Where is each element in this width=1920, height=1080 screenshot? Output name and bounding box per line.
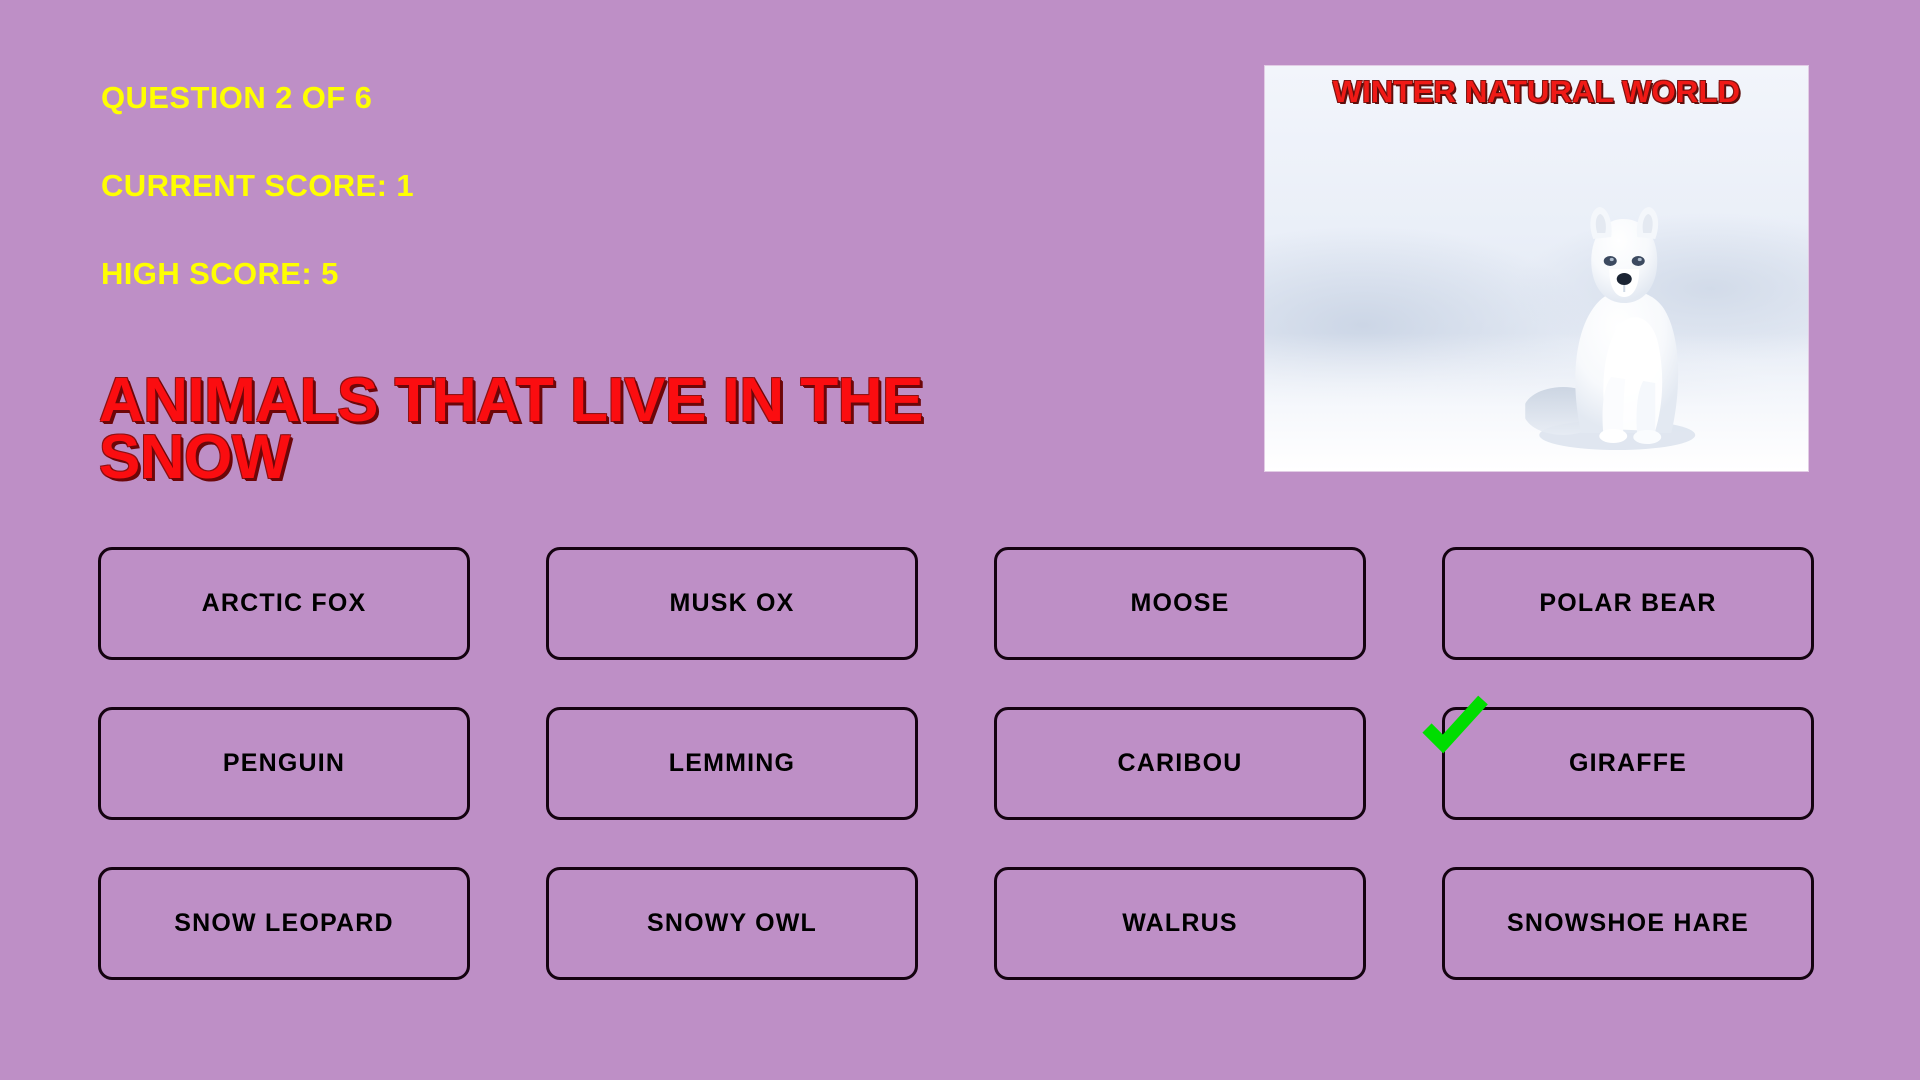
correct-check-icon <box>1417 688 1493 758</box>
answer-button[interactable]: MUSK OX <box>546 547 918 660</box>
arctic-fox-icon <box>1525 183 1721 451</box>
answer-button[interactable]: PENGUIN <box>98 707 470 820</box>
answer-button-label: MOOSE <box>1130 589 1229 618</box>
answer-button-label: WALRUS <box>1122 909 1238 938</box>
current-score-label: CURRENT SCORE: 1 <box>101 170 414 201</box>
answer-button-label: SNOWY OWL <box>647 909 817 938</box>
answer-button-label: LEMMING <box>669 749 795 778</box>
high-score-label: HIGH SCORE: 5 <box>101 258 339 289</box>
answer-button-label: POLAR BEAR <box>1539 589 1716 618</box>
answer-button-label: PENGUIN <box>223 749 345 778</box>
answer-button-label: SNOW LEOPARD <box>174 909 394 938</box>
question-prompt: ANIMALS THAT LIVE IN THE SNOW <box>99 372 1099 486</box>
answer-button-label: CARIBOU <box>1117 749 1242 778</box>
question-progress-label: QUESTION 2 OF 6 <box>101 82 372 113</box>
answer-button-label: ARCTIC FOX <box>202 589 367 618</box>
answer-button[interactable]: SNOW LEOPARD <box>98 867 470 980</box>
answer-button[interactable]: MOOSE <box>994 547 1366 660</box>
answer-button-label: GIRAFFE <box>1569 749 1687 778</box>
answer-button[interactable]: ARCTIC FOX <box>98 547 470 660</box>
snow-background <box>1265 66 1808 471</box>
quiz-screen: QUESTION 2 OF 6 CURRENT SCORE: 1 HIGH SC… <box>0 0 1920 1080</box>
answer-button[interactable]: POLAR BEAR <box>1442 547 1814 660</box>
answer-button[interactable]: SNOWY OWL <box>546 867 918 980</box>
answer-button[interactable]: GIRAFFE <box>1442 707 1814 820</box>
answer-button-grid: ARCTIC FOXMUSK OXMOOSEPOLAR BEARPENGUINL… <box>98 547 1814 980</box>
answer-button-label: MUSK OX <box>669 589 794 618</box>
answer-button[interactable]: SNOWSHOE HARE <box>1442 867 1814 980</box>
answer-button[interactable]: LEMMING <box>546 707 918 820</box>
picture-title: WINTER NATURAL WORLD <box>1265 76 1808 108</box>
answer-button[interactable]: WALRUS <box>994 867 1366 980</box>
answer-button-label: SNOWSHOE HARE <box>1507 909 1749 938</box>
question-image-card: WINTER NATURAL WORLD <box>1265 66 1808 471</box>
answer-button[interactable]: CARIBOU <box>994 707 1366 820</box>
